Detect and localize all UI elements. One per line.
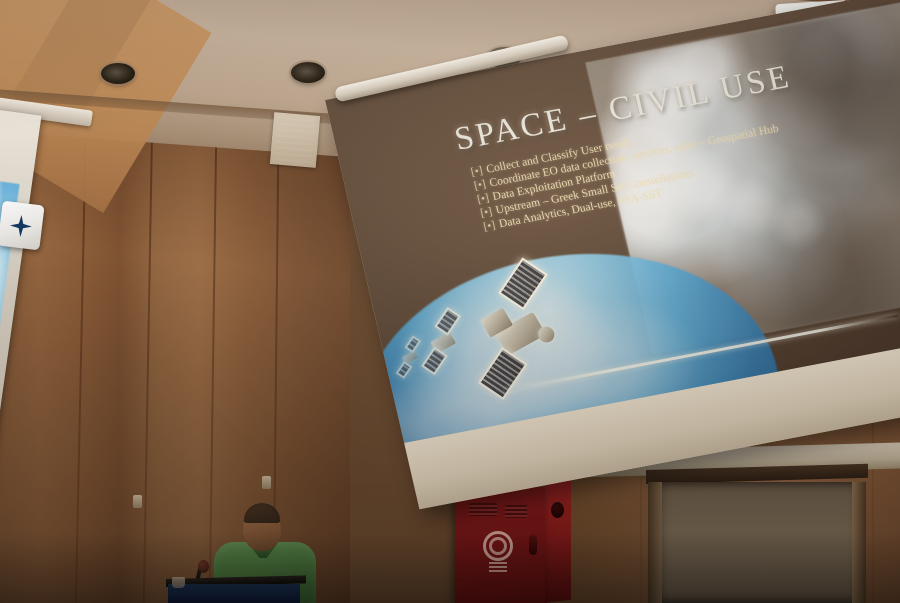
alcove-jamb-left [648,482,662,603]
cabinet-knob-icon[interactable] [551,502,564,518]
four-point-star-icon [9,214,32,237]
hose-reel-inner-ring [489,537,507,555]
fire-hose-reel-symbol-icon [481,529,515,575]
wall-fitting [133,495,142,508]
wall-sign-left[interactable] [0,201,45,251]
podium-cup [172,577,185,588]
fire-hose-cabinet-side [545,479,571,603]
photo-scene: SPACE – CIVIL USE [•]Collect and Classif… [0,0,900,603]
cabinet-vent-icon [505,505,527,518]
podium [168,584,300,603]
microphone-head-icon[interactable] [198,560,209,573]
wall-fitting [262,476,271,489]
wall-alcove-doorway[interactable] [653,482,861,603]
alcove-jamb-right [852,482,866,603]
ceiling-downlight-icon [291,62,325,83]
wall-vent-grille [270,112,320,168]
cabinet-vent-icon [469,503,497,516]
hose-nozzle-glyph [489,562,507,573]
cabinet-latch-icon[interactable] [529,535,537,555]
ceiling-downlight-icon [101,63,135,84]
vent-louvers [274,116,316,163]
